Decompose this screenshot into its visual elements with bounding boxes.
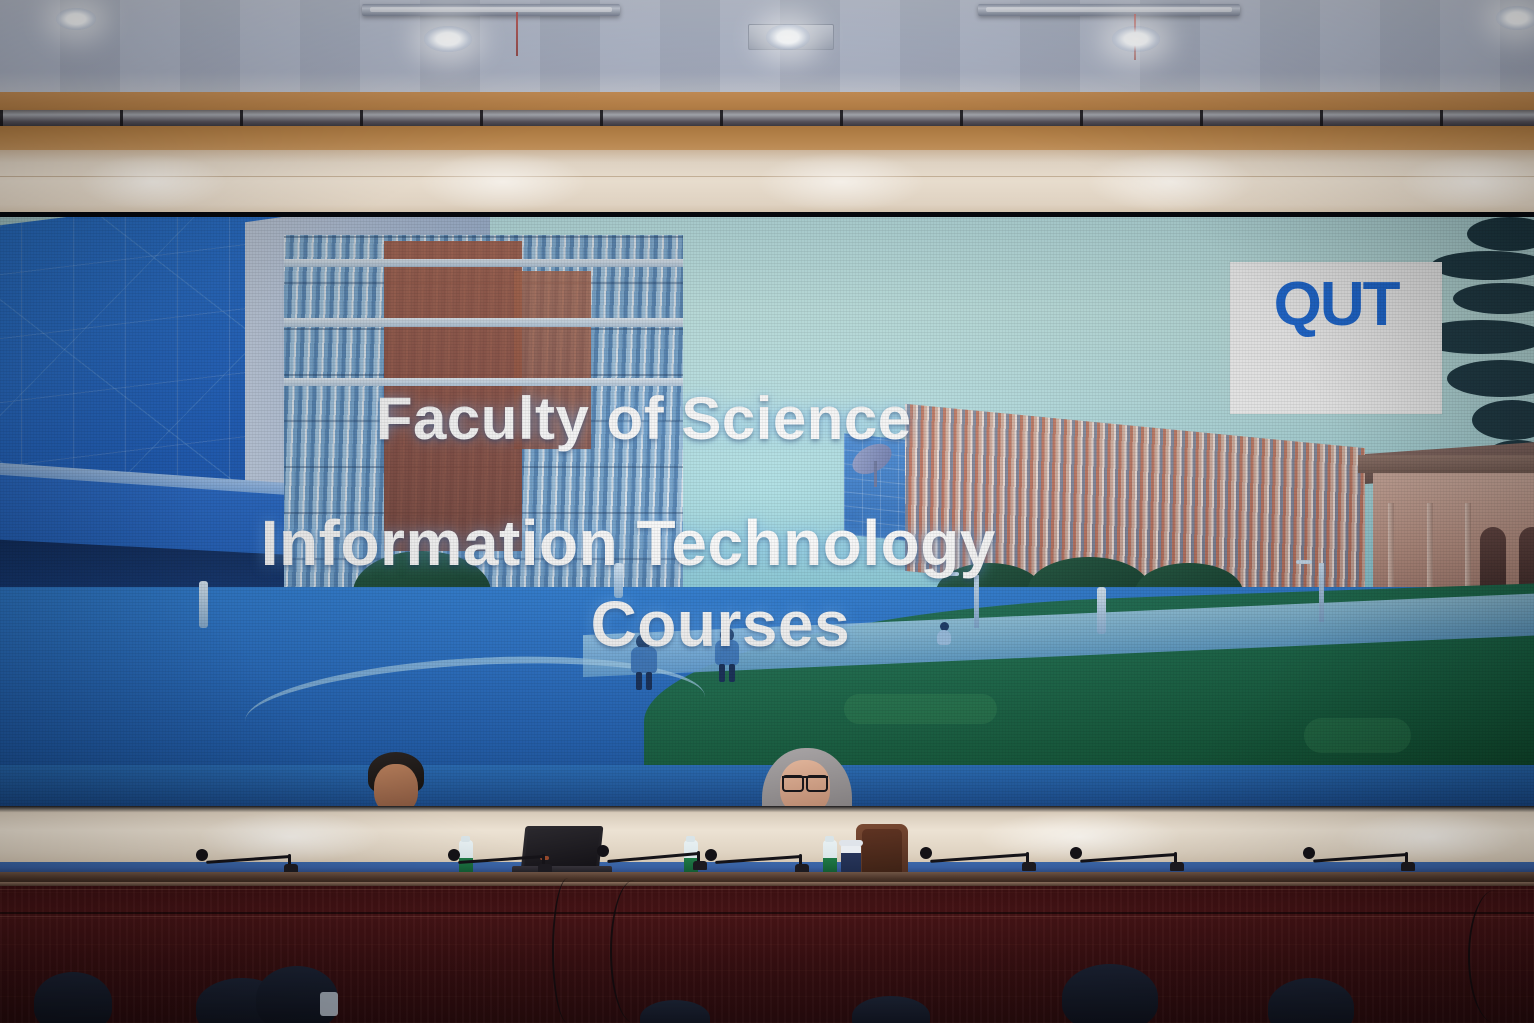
microphone-arm xyxy=(1080,853,1176,863)
microphone-arm xyxy=(458,855,544,864)
heritage-column xyxy=(1388,503,1394,598)
slide-title-line-2: Information Technology xyxy=(261,506,996,580)
satellite-dish-mast xyxy=(874,461,877,487)
qut-logo-text: QUT xyxy=(1239,274,1434,336)
microphone-arm xyxy=(715,855,801,864)
ceiling-light-fixture xyxy=(362,4,620,16)
heritage-pergola xyxy=(1358,455,1534,473)
slide-title-line-3: Courses xyxy=(591,587,851,661)
microphone-head xyxy=(448,849,460,861)
auditorium-scene: QUT Faculty of Science Information Techn… xyxy=(0,0,1534,1023)
heritage-column xyxy=(1465,503,1471,598)
microphone[interactable] xyxy=(196,846,304,872)
bottle-cap xyxy=(825,836,834,842)
slide-title-line-1: Faculty of Science xyxy=(376,384,912,453)
ceiling-light-fixture xyxy=(978,4,1240,16)
microphone-head xyxy=(705,849,717,861)
ceiling-cable xyxy=(516,12,518,56)
bollard xyxy=(199,581,208,629)
chair-backrest xyxy=(862,829,902,878)
microphone-base xyxy=(1401,862,1415,871)
qut-logo: QUT xyxy=(1230,262,1442,414)
tower-slab xyxy=(284,259,683,267)
bottle-label xyxy=(823,858,837,872)
microphone-head xyxy=(196,849,208,861)
water-bottle[interactable] xyxy=(823,840,837,874)
ceiling-downlight xyxy=(56,8,96,30)
student-seated xyxy=(936,622,952,648)
bollard xyxy=(1097,587,1106,635)
microphone-head xyxy=(597,845,609,857)
microphone-head xyxy=(1303,847,1315,859)
led-screen[interactable]: QUT Faculty of Science Information Techn… xyxy=(0,217,1534,813)
desk-panel-highlight xyxy=(0,916,1534,917)
microphone-arm xyxy=(930,853,1028,863)
wall-light-reflection xyxy=(78,154,228,210)
heritage-column xyxy=(1427,503,1433,598)
fixture-diffuser xyxy=(986,7,1232,12)
microphone-head xyxy=(1070,847,1082,859)
microphone-arm xyxy=(206,855,290,864)
wall-light-reflection xyxy=(1086,152,1256,212)
rail-detail xyxy=(0,110,1534,126)
lamp-post xyxy=(1319,563,1324,623)
ceiling-downlight xyxy=(1112,26,1160,52)
microphone-base xyxy=(1170,862,1184,871)
ceiling-rail xyxy=(0,110,1534,126)
desk-panel-highlight xyxy=(0,889,1534,890)
desk-panel-line xyxy=(0,912,1534,914)
microphone-base xyxy=(1022,862,1036,871)
audience-head xyxy=(34,972,112,1023)
ceiling-downlight xyxy=(766,24,810,50)
microphone-arm xyxy=(1313,853,1407,863)
lawn-patch xyxy=(844,694,997,724)
microphone[interactable] xyxy=(448,846,558,872)
microphone-head xyxy=(920,847,932,859)
audience-head xyxy=(1062,964,1158,1023)
lamp-post xyxy=(974,575,979,629)
microphone[interactable] xyxy=(1303,844,1423,870)
microphone[interactable] xyxy=(1070,844,1192,870)
lawn-patch xyxy=(1304,718,1411,754)
cable xyxy=(1468,890,1522,1023)
ceiling-downlight xyxy=(424,26,472,52)
microphone-arm xyxy=(607,852,699,863)
upper-wall-band xyxy=(0,126,1534,152)
microphone[interactable] xyxy=(920,844,1044,870)
tower-slab xyxy=(284,318,683,326)
coffee-cup-lid xyxy=(839,840,863,846)
ceiling-downlight xyxy=(1496,6,1534,30)
fixture-diffuser xyxy=(370,7,613,12)
cable xyxy=(610,880,658,1023)
lamp-head xyxy=(1296,560,1312,564)
glasses-lens-right xyxy=(806,775,828,792)
microphone[interactable] xyxy=(705,846,815,872)
microphone[interactable] xyxy=(597,842,715,870)
bottle-cap xyxy=(461,836,470,842)
wall-light-reflection xyxy=(756,152,926,212)
cable xyxy=(552,878,584,1023)
wall-light-reflection xyxy=(418,152,588,212)
audience-device-screen xyxy=(320,992,338,1016)
glasses-lens-left xyxy=(782,775,804,792)
